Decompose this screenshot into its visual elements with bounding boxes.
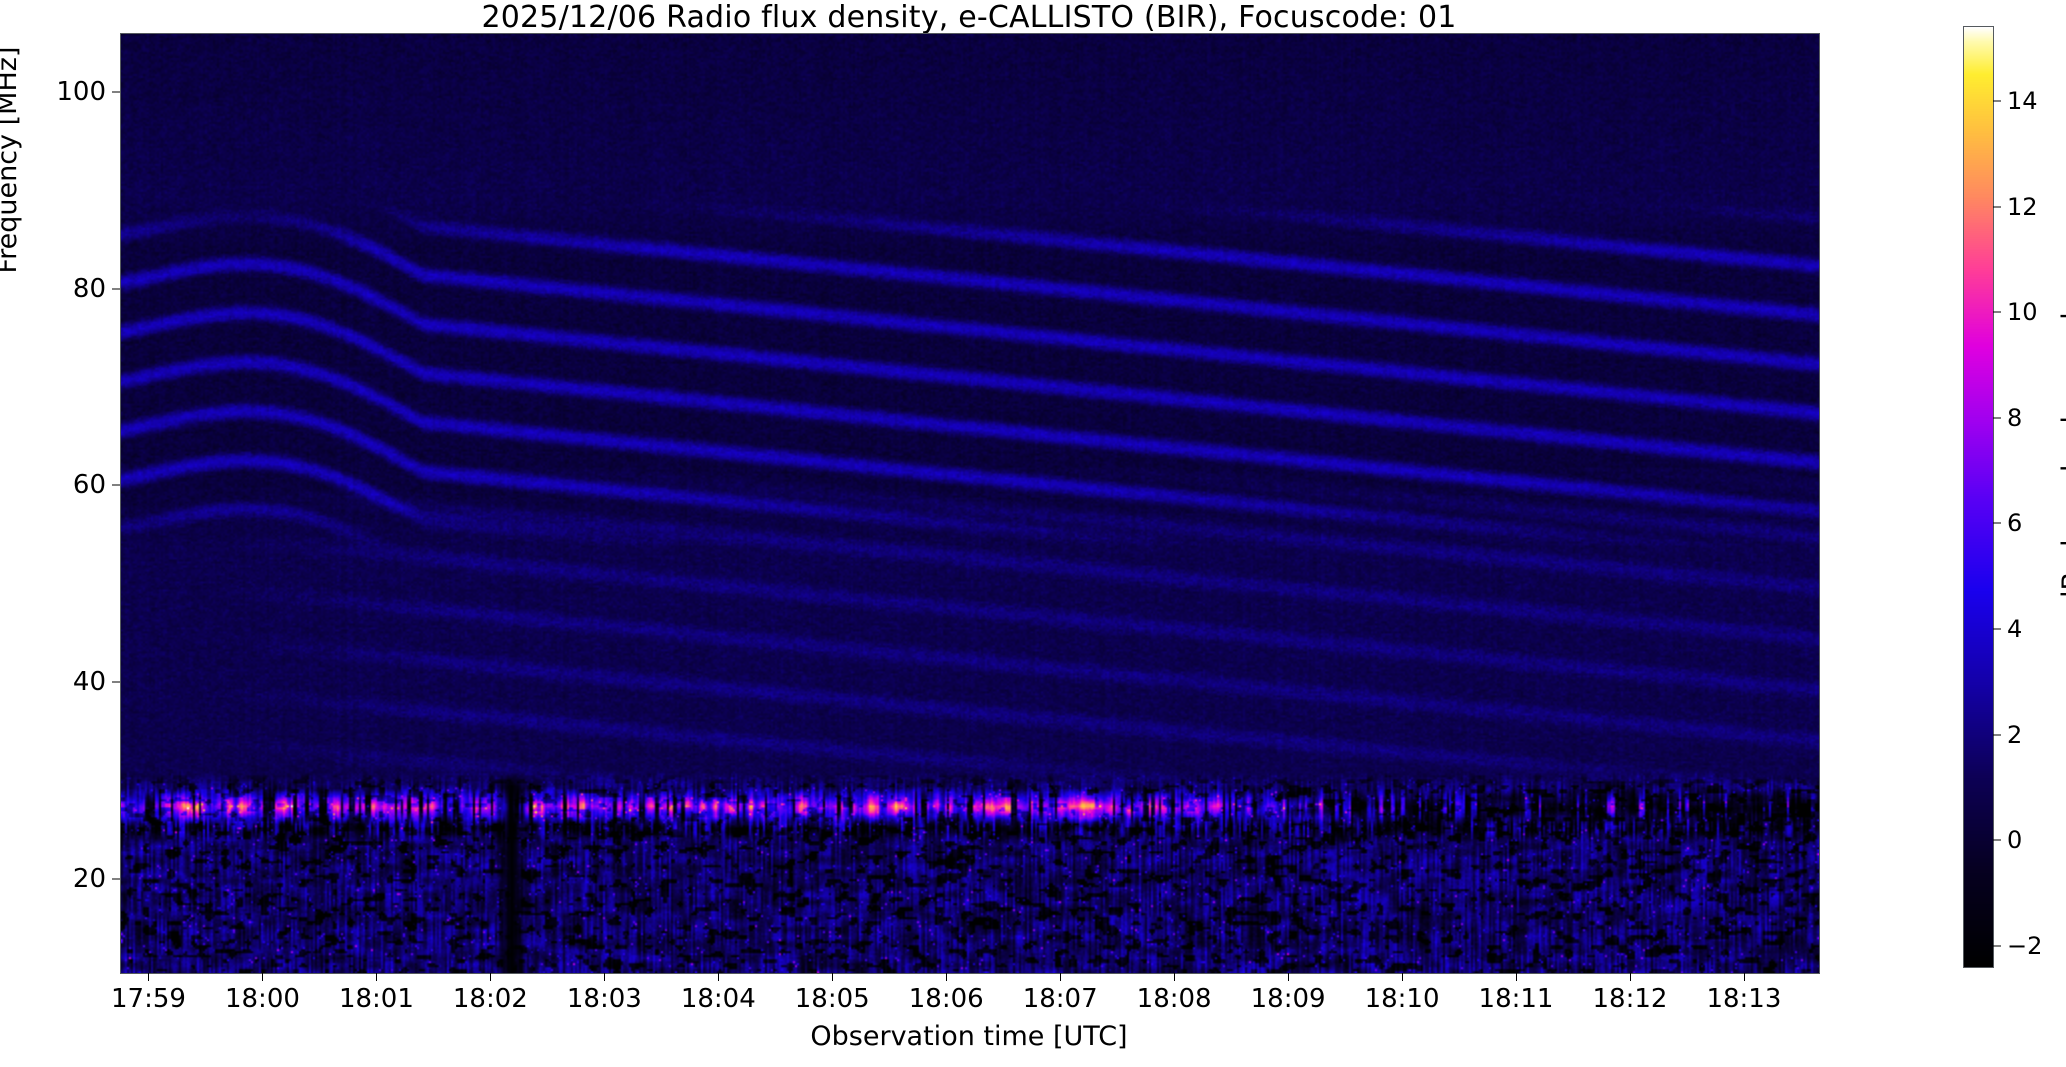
x-axis-label: Observation time [UTC] [120,1022,1818,1052]
x-tick-label: 18:02 [453,985,528,1013]
x-tick-mark [1060,973,1061,981]
x-tick-label: 18:06 [909,985,984,1013]
y-tick-mark [112,288,120,289]
x-tick-label: 18:08 [1137,985,1212,1013]
colorbar-tick-label: 0 [2007,828,2022,852]
x-tick-label: 18:05 [795,985,870,1013]
x-tick-label: 18:13 [1706,985,1781,1013]
x-tick-label: 18:11 [1479,985,1554,1013]
x-tick-label: 18:04 [681,985,756,1013]
x-tick-mark [1288,973,1289,981]
colorbar-label: dB above background [2058,200,2066,720]
colorbar-tick-mark [1993,100,2001,101]
x-tick-mark [148,973,149,981]
y-tick-label: 100 [56,79,106,105]
x-tick-label: 18:03 [567,985,642,1013]
colorbar-tick-mark [1993,629,2001,630]
y-tick-mark [112,91,120,92]
y-tick-label: 20 [73,866,106,892]
colorbar-tick-mark [1993,945,2001,946]
colorbar-tick-label: −2 [2007,934,2042,958]
x-tick-label: 18:01 [339,985,414,1013]
colorbar-tick-mark [1993,840,2001,841]
x-tick-mark [1744,973,1745,981]
colorbar-tick-label: 6 [2007,511,2022,535]
x-tick-mark [946,973,947,981]
x-tick-label: 18:00 [225,985,300,1013]
spectrogram-figure: 2025/12/06 Radio flux density, e-CALLIST… [0,0,2066,1067]
y-tick-mark [112,681,120,682]
x-tick-label: 18:10 [1365,985,1440,1013]
x-tick-label: 18:09 [1251,985,1326,1013]
plot-area [120,33,1820,974]
y-tick-mark [112,485,120,486]
y-axis-label: Frequency [MHz] [0,0,23,370]
y-tick-mark [112,878,120,879]
colorbar-tick-label: 10 [2007,300,2038,324]
x-tick-mark [1516,973,1517,981]
x-tick-mark [1630,973,1631,981]
x-tick-mark [262,973,263,981]
colorbar-tick-label: 8 [2007,406,2022,430]
colorbar-tick-mark [1993,206,2001,207]
x-tick-mark [376,973,377,981]
colorbar-tick-mark [1993,417,2001,418]
spectrogram-heatmap [121,34,1819,973]
x-tick-mark [832,973,833,981]
x-tick-label: 18:12 [1592,985,1667,1013]
colorbar [1963,26,1994,968]
colorbar-tick-mark [1993,734,2001,735]
colorbar-tick-mark [1993,312,2001,313]
x-tick-mark [604,973,605,981]
colorbar-tick-label: 14 [2007,89,2038,113]
colorbar-tick-label: 12 [2007,195,2038,219]
x-tick-label: 17:59 [111,985,186,1013]
x-tick-mark [1174,973,1175,981]
colorbar-ticks: −202468101214 [1993,26,2063,968]
x-tick-mark [490,973,491,981]
colorbar-gradient [1964,27,1993,967]
x-tick-mark [718,973,719,981]
colorbar-tick-label: 4 [2007,617,2022,641]
x-tick-label: 18:07 [1023,985,1098,1013]
colorbar-tick-mark [1993,523,2001,524]
x-tick-mark [1402,973,1403,981]
y-tick-label: 60 [73,472,106,498]
y-tick-label: 80 [73,276,106,302]
colorbar-tick-label: 2 [2007,723,2022,747]
y-tick-label: 40 [73,669,106,695]
page-title: 2025/12/06 Radio flux density, e-CALLIST… [0,2,1938,34]
